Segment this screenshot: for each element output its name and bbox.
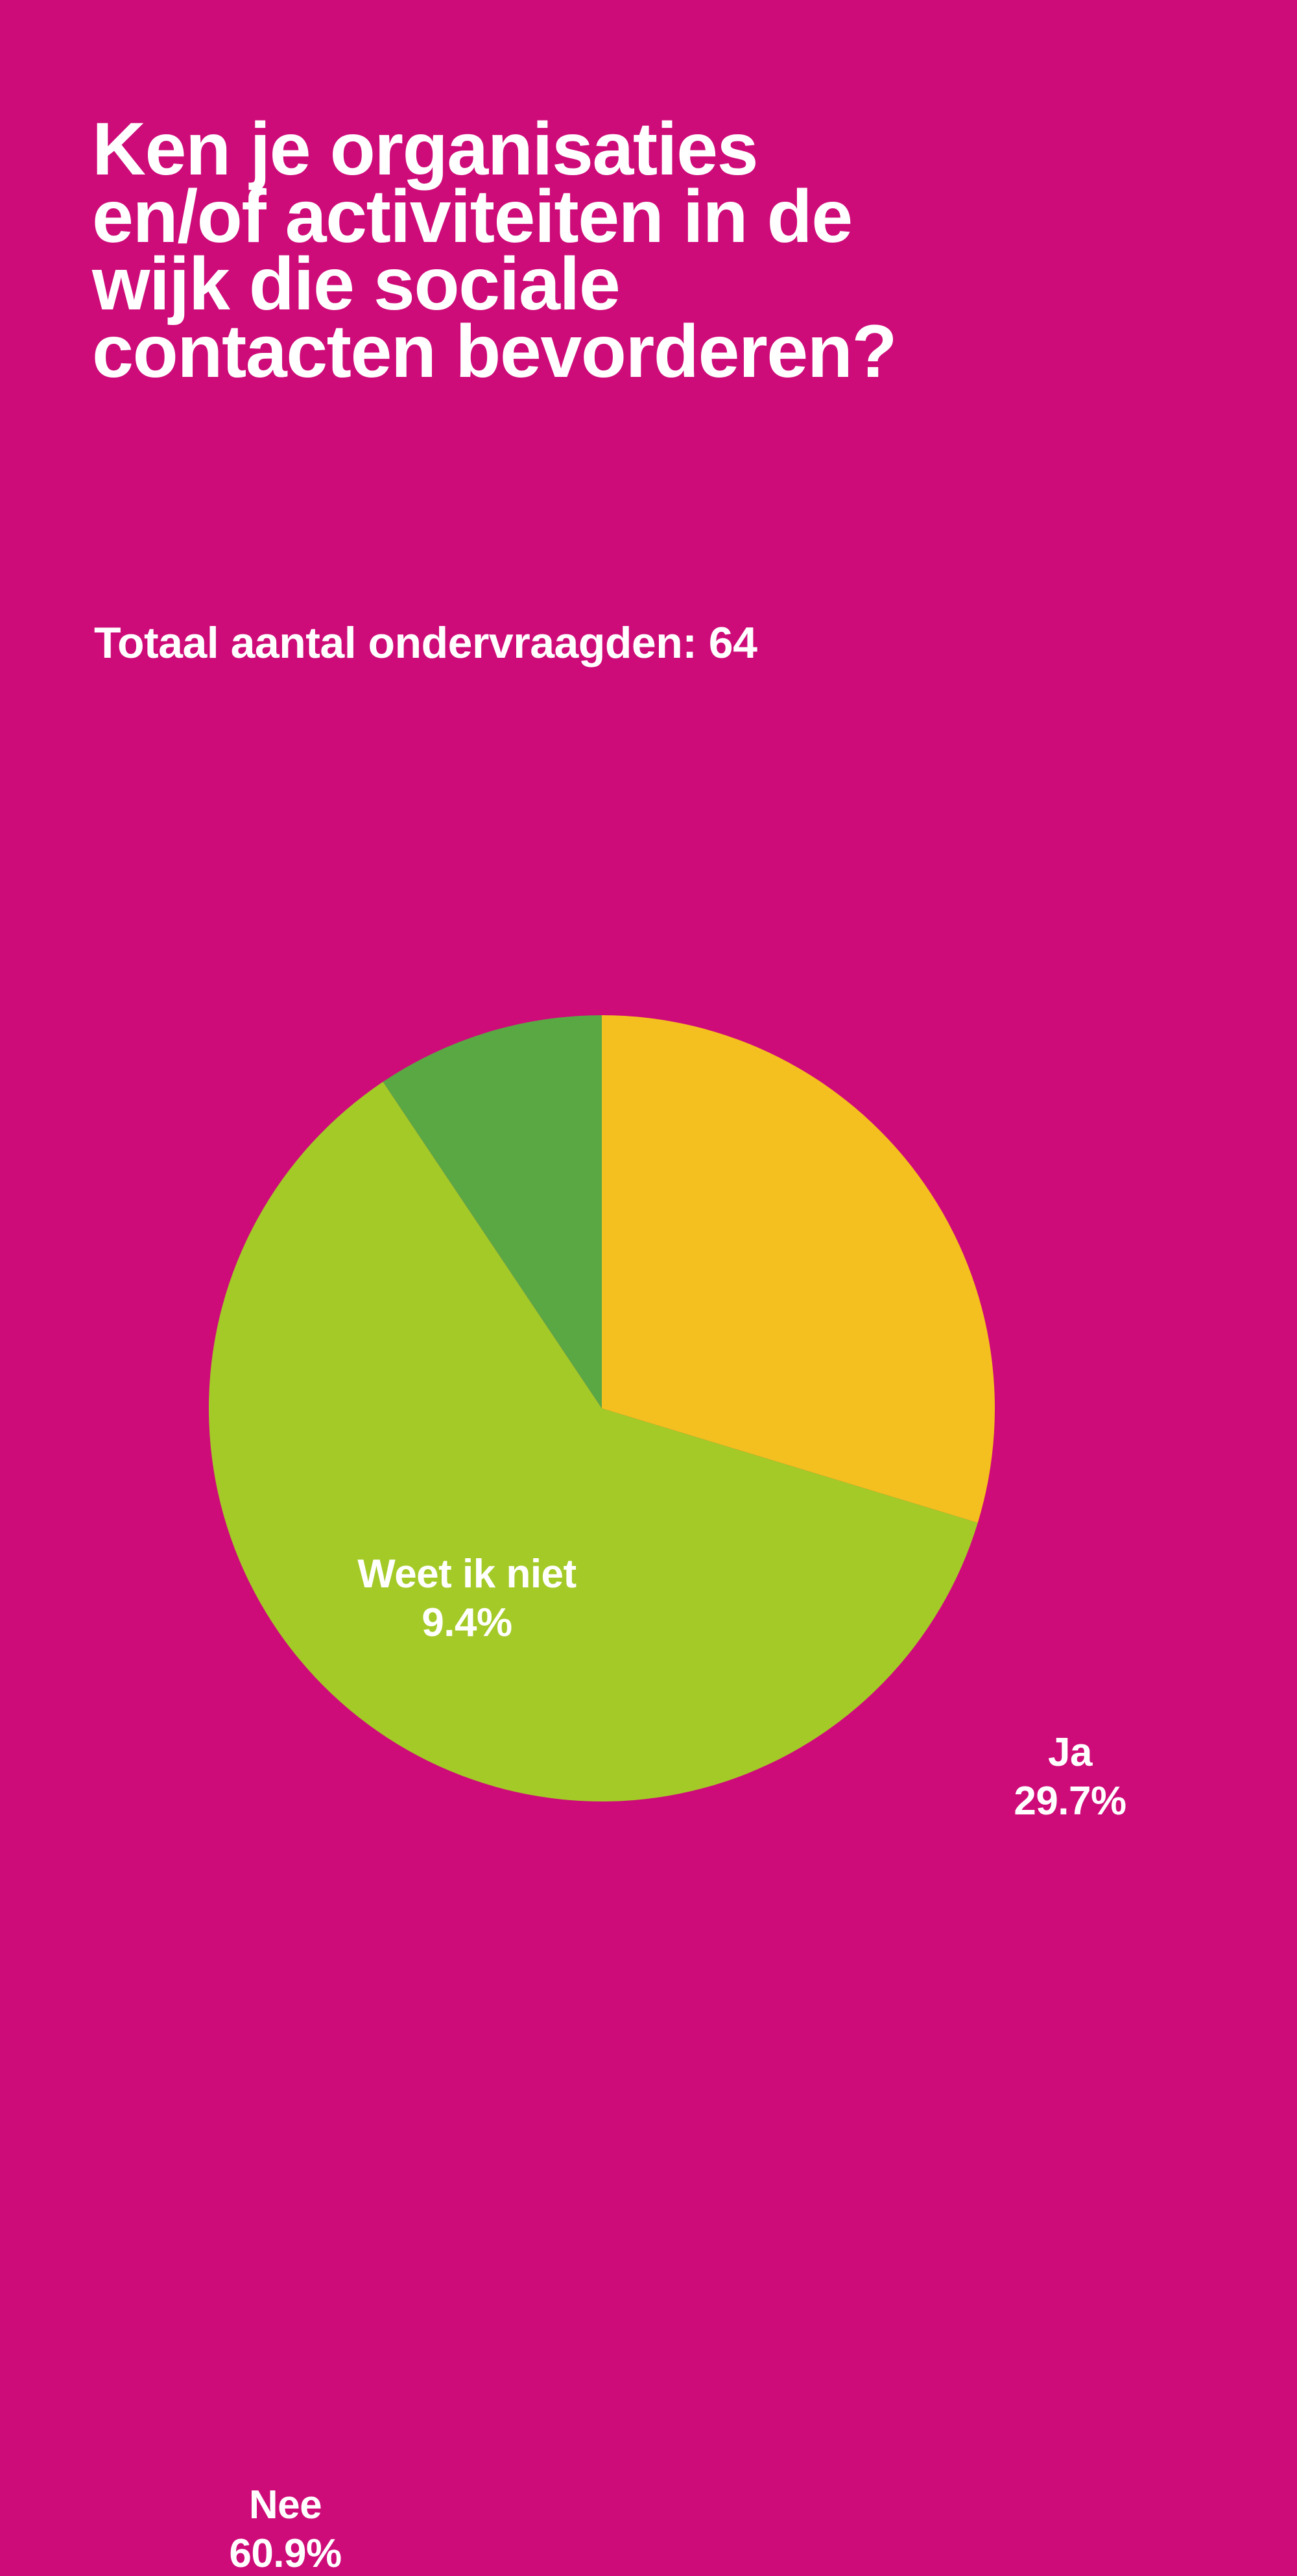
title-line-1: Ken je organisaties <box>92 115 1220 183</box>
pie-chart: Weet ik niet 9.4% Ja 29.7% Nee 60.9% <box>0 714 1297 2024</box>
title-line-4: contacten bevorderen? <box>92 318 1220 385</box>
pie-chart-svg <box>0 714 1297 2024</box>
slice-label-weet-ik-niet-value: 9.4% <box>220 1602 713 1643</box>
slice-label-nee-value: 60.9% <box>78 2533 493 2574</box>
poster-canvas: Ken je organisaties en/of activiteiten i… <box>0 0 1297 2024</box>
slice-label-ja-value: 29.7% <box>869 1781 1271 1822</box>
slice-label-ja: Ja 29.7% <box>869 1732 1271 1822</box>
slice-label-ja-name: Ja <box>869 1732 1271 1773</box>
title-line-2: en/of activiteiten in de <box>92 183 1220 250</box>
page-title: Ken je organisaties en/of activiteiten i… <box>92 115 1220 385</box>
pie-slice-group <box>209 1015 995 1801</box>
title-line-3: wijk die sociale <box>92 250 1220 318</box>
slice-label-nee: Nee 60.9% <box>78 2485 493 2574</box>
respondent-count-subtitle: Totaal aantal ondervraagden: 64 <box>94 618 757 668</box>
slice-label-weet-ik-niet: Weet ik niet 9.4% <box>220 1554 713 1643</box>
slice-label-nee-name: Nee <box>78 2485 493 2525</box>
slice-label-weet-ik-niet-name: Weet ik niet <box>220 1554 713 1595</box>
